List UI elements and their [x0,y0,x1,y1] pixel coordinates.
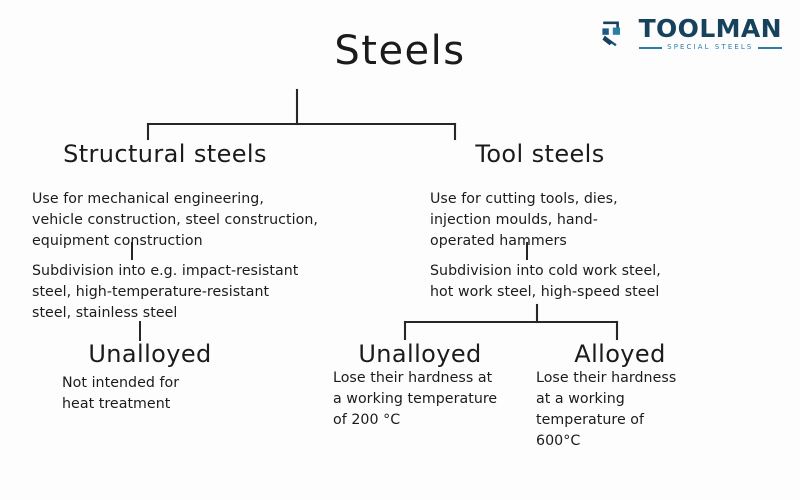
tool-unalloyed-text: Lose their hardness at a working tempera… [333,368,533,431]
structural-use-line-1: Use for mechanical engineering, [32,189,362,210]
diagram-title: Steels [0,28,800,74]
tool-unalloyed-line-3: of 200 °C [333,410,533,431]
tool-alloyed-text: Lose their hardness at a working tempera… [536,368,716,452]
structural-subdivision-line-2: steel, high-temperature-resistant [32,282,362,303]
tool-use-line-1: Use for cutting tools, dies, [430,189,710,210]
tool-alloyed-line-4: 600°C [536,431,716,452]
structural-unalloyed-line-1: Not intended for [62,373,292,394]
structural-unalloyed-line-2: heat treatment [62,394,292,415]
tool-subdivision-line-2: hot work steel, high-speed steel [430,282,720,303]
structural-use-text: Use for mechanical engineering, vehicle … [32,189,362,252]
structural-subdivision-text: Subdivision into e.g. impact-resistant s… [32,261,362,324]
structural-use-line-2: vehicle construction, steel construction… [32,210,362,231]
node-tool-unalloyed: Unalloyed [320,340,520,368]
structural-unalloyed-text: Not intended for heat treatment [62,373,292,415]
tool-alloyed-line-2: at a working [536,389,716,410]
tool-alloyed-line-3: temperature of [536,410,716,431]
tool-subdivision-line-1: Subdivision into cold work steel, [430,261,720,282]
structural-subdivision-line-1: Subdivision into e.g. impact-resistant [32,261,362,282]
tool-use-line-3: operated hammers [430,231,710,252]
structural-use-line-3: equipment construction [32,231,362,252]
node-structural-unalloyed: Unalloyed [40,340,260,368]
tool-subdivision-text: Subdivision into cold work steel, hot wo… [430,261,720,303]
tool-unalloyed-line-1: Lose their hardness at [333,368,533,389]
structural-subdivision-line-3: steel, stainless steel [32,303,362,324]
node-structural-steels: Structural steels [20,140,310,168]
tool-alloyed-line-1: Lose their hardness [536,368,716,389]
tool-use-line-2: injection moulds, hand- [430,210,710,231]
node-tool-alloyed: Alloyed [520,340,720,368]
diagram-canvas: TOOLMAN SPECIAL STEELS Steels Structural… [0,0,800,500]
tool-unalloyed-line-2: a working temperature [333,389,533,410]
node-tool-steels: Tool steels [400,140,680,168]
tool-use-text: Use for cutting tools, dies, injection m… [430,189,710,252]
